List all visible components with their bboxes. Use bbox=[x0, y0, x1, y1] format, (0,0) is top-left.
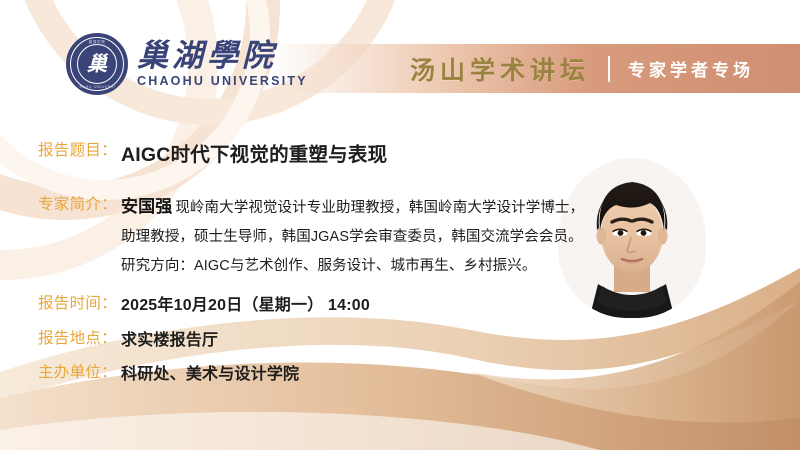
report-host-label: 主办单位： bbox=[38, 360, 117, 382]
speaker-name: 安国强 bbox=[121, 197, 172, 216]
poster-canvas: 汤山学术讲坛 专家学者专场 巢湖学院 CHAOHU UNIVERSITY 巢 巢… bbox=[0, 0, 800, 450]
report-title-label: 报告题目： bbox=[38, 138, 117, 160]
bio-line-3: 研究方向：AIGC与艺术创作、服务设计、城市再生、乡村振兴。 bbox=[121, 254, 584, 275]
bio-line-1: 安国强现岭南大学视觉设计专业助理教授，韩国岭南大学设计学博士， bbox=[121, 192, 584, 217]
report-title-value: AIGC时代下视觉的重塑与表现 bbox=[121, 138, 387, 167]
report-place-label: 报告地点： bbox=[38, 326, 117, 348]
report-place-value: 求实楼报告厅 bbox=[121, 326, 218, 350]
report-time-value: 2025年10月20日（星期一） 14:00 bbox=[121, 291, 370, 315]
report-host-row: 主办单位： 科研处、美术与设计学院 bbox=[38, 360, 299, 384]
report-time-label: 报告时间： bbox=[38, 291, 117, 313]
report-time-row: 报告时间： 2025年10月20日（星期一） 14:00 bbox=[38, 291, 370, 315]
speaker-bio-row: 专家简介： 安国强现岭南大学视觉设计专业助理教授，韩国岭南大学设计学博士， 助理… bbox=[38, 192, 584, 275]
report-place-row: 报告地点： 求实楼报告厅 bbox=[38, 326, 218, 350]
speaker-bio-label: 专家简介： bbox=[38, 192, 117, 214]
bio-line-2: 助理教授，硕士生导师，韩国JGAS学会审查委员，韩国交流学会会员。 bbox=[121, 225, 584, 246]
report-title-row: 报告题目： AIGC时代下视觉的重塑与表现 bbox=[38, 138, 387, 167]
speaker-bio-body: 安国强现岭南大学视觉设计专业助理教授，韩国岭南大学设计学博士， 助理教授，硕士生… bbox=[121, 192, 584, 275]
report-host-value: 科研处、美术与设计学院 bbox=[121, 360, 299, 384]
bio-text-1: 现岭南大学视觉设计专业助理教授，韩国岭南大学设计学博士， bbox=[175, 200, 584, 216]
